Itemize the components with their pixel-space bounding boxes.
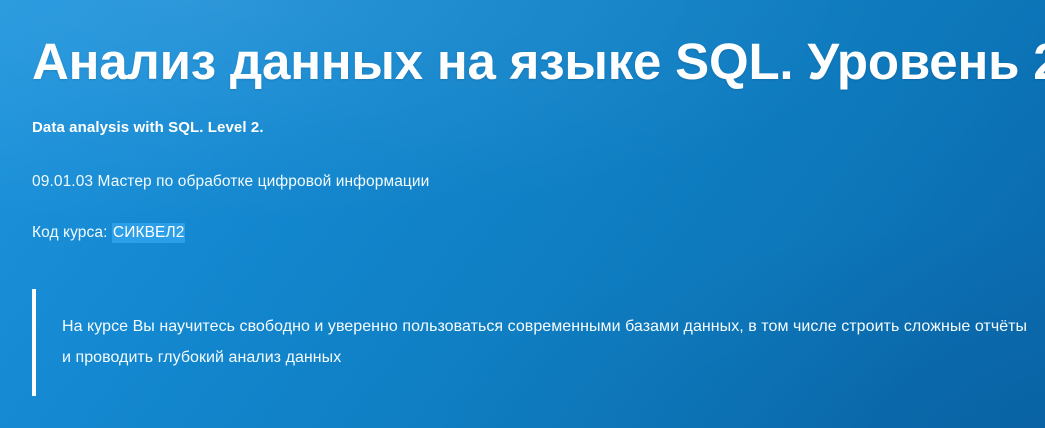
course-code-row: Код курса: СИКВЕЛ2 (32, 222, 185, 243)
course-subtitle-english: Data analysis with SQL. Level 2. (32, 118, 264, 138)
hero-content: Анализ данных на языке SQL. Уровень 2 Da… (0, 0, 1045, 428)
course-description-block: На курсе Вы научитесь свободно и уверенн… (32, 289, 1028, 396)
page-title: Анализ данных на языке SQL. Уровень 2 (32, 33, 1045, 91)
specialty-code-and-name: 09.01.03 Мастер по обработке цифровой ин… (32, 171, 429, 192)
course-code-value[interactable]: СИКВЕЛ2 (112, 223, 186, 243)
course-code-label: Код курса: (32, 224, 108, 241)
course-hero-banner: Анализ данных на языке SQL. Уровень 2 Da… (0, 0, 1045, 428)
course-description-text: На курсе Вы научитесь свободно и уверенн… (36, 289, 1028, 396)
